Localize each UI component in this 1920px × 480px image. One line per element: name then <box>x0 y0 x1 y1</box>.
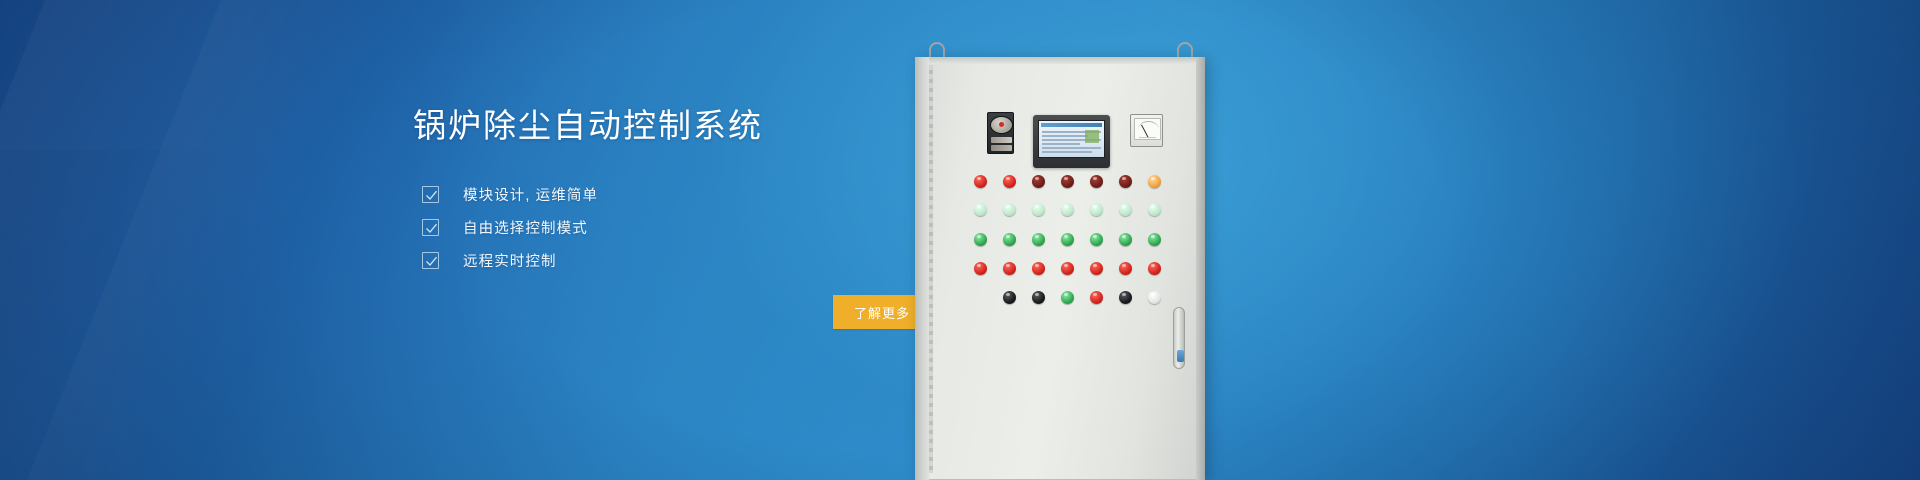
hmi-text-row <box>1042 143 1080 145</box>
hmi-text-row <box>1042 151 1092 153</box>
page-title: 锅炉除尘自动控制系统 <box>413 108 763 144</box>
learn-more-label: 了解更多 <box>854 303 910 322</box>
list-item: 模块设计, 运维简单 <box>422 178 598 211</box>
indicator-lamp-red <box>1003 175 1016 188</box>
cabinet-body <box>915 57 1205 480</box>
indicator-lamp-pale-green <box>1061 203 1074 216</box>
feature-label: 模块设计, 运维简单 <box>463 184 598 205</box>
indicator-lamp-red <box>1119 262 1132 275</box>
indicator-lamp-black <box>1119 291 1132 304</box>
lamp-row <box>995 291 1169 304</box>
timer-selector-module <box>987 112 1014 154</box>
lamp-row <box>966 262 1169 275</box>
lamp-row <box>966 233 1169 246</box>
list-item: 远程实时控制 <box>422 244 598 277</box>
control-cabinet-photo <box>905 0 1245 480</box>
indicator-lamp-green <box>1061 233 1074 246</box>
indicator-lamp-red <box>974 262 987 275</box>
indicator-lamp-red <box>1032 262 1045 275</box>
check-icon <box>422 186 439 203</box>
list-item: 自由选择控制模式 <box>422 211 598 244</box>
check-icon <box>422 252 439 269</box>
cabinet-right-edge <box>1196 57 1205 480</box>
door-lock-icon <box>1177 350 1184 362</box>
hmi-title-bar <box>1041 123 1102 127</box>
hero-copy: 锅炉除尘自动控制系统 模块设计, 运维简单 自由选择控制模式 远程实时控制 <box>413 0 933 480</box>
hmi-touchscreen <box>1033 115 1110 168</box>
indicator-lamp-black <box>1003 291 1016 304</box>
indicator-lamp-white <box>1148 291 1161 304</box>
indicator-lamp-dark-red <box>1032 175 1045 188</box>
meter-tick-line <box>1139 137 1156 138</box>
indicator-lamp-green <box>1003 233 1016 246</box>
feature-label: 远程实时控制 <box>463 250 557 271</box>
indicator-lamp-black <box>1032 291 1045 304</box>
analog-meter <box>1130 114 1163 147</box>
timer-indicator <box>999 122 1004 127</box>
indicator-lamp-green <box>974 233 987 246</box>
indicator-lamp-pale-green <box>1148 203 1161 216</box>
indicator-lamp-pale-green <box>1032 203 1045 216</box>
hmi-text-row <box>1042 135 1088 137</box>
hmi-text-row <box>1042 147 1101 149</box>
hmi-screen <box>1038 120 1105 158</box>
indicator-lamp-dark-red <box>1119 175 1132 188</box>
indicator-lamp-green <box>1119 233 1132 246</box>
indicator-lamp-green <box>1148 233 1161 246</box>
indicator-lamp-pale-green <box>1119 203 1132 216</box>
indicator-lamp-green <box>1061 291 1074 304</box>
timer-label-strip <box>991 137 1012 143</box>
cabinet-door-handle <box>1173 307 1185 369</box>
feature-list: 模块设计, 运维简单 自由选择控制模式 远程实时控制 <box>422 178 598 277</box>
indicator-lamp-green <box>1090 233 1103 246</box>
feature-label: 自由选择控制模式 <box>463 217 588 238</box>
light-streak <box>0 0 394 480</box>
cabinet-left-edge <box>915 57 929 480</box>
indicator-lamp-pale-green <box>974 203 987 216</box>
indicator-lamp-dark-red <box>1061 175 1074 188</box>
light-streak <box>0 0 452 480</box>
indicator-lamp-red <box>974 175 987 188</box>
light-streak <box>1462 0 1920 480</box>
indicator-lamp-pale-green <box>1090 203 1103 216</box>
indicator-lamp-red <box>1061 262 1074 275</box>
hmi-graphic-block <box>1085 130 1099 143</box>
cabinet-top-edge <box>915 57 1205 64</box>
light-streak <box>0 150 477 480</box>
indicator-lamp-green <box>1032 233 1045 246</box>
indicator-lamp-red <box>1148 262 1161 275</box>
indicator-lamp-dark-red <box>1090 175 1103 188</box>
timer-label-strip <box>991 145 1012 151</box>
indicator-lamp-red <box>1003 262 1016 275</box>
meter-dial <box>1134 118 1161 140</box>
check-icon <box>422 219 439 236</box>
cabinet-hinge-seam <box>929 65 933 473</box>
lamp-row <box>966 203 1169 216</box>
hero-banner: 锅炉除尘自动控制系统 模块设计, 运维简单 自由选择控制模式 远程实时控制 <box>0 0 1920 480</box>
indicator-lamp-red <box>1090 262 1103 275</box>
indicator-lamp-pale-green <box>1003 203 1016 216</box>
indicator-lamp-red <box>1090 291 1103 304</box>
lamp-row <box>966 175 1169 188</box>
indicator-lamp-orange <box>1148 175 1161 188</box>
